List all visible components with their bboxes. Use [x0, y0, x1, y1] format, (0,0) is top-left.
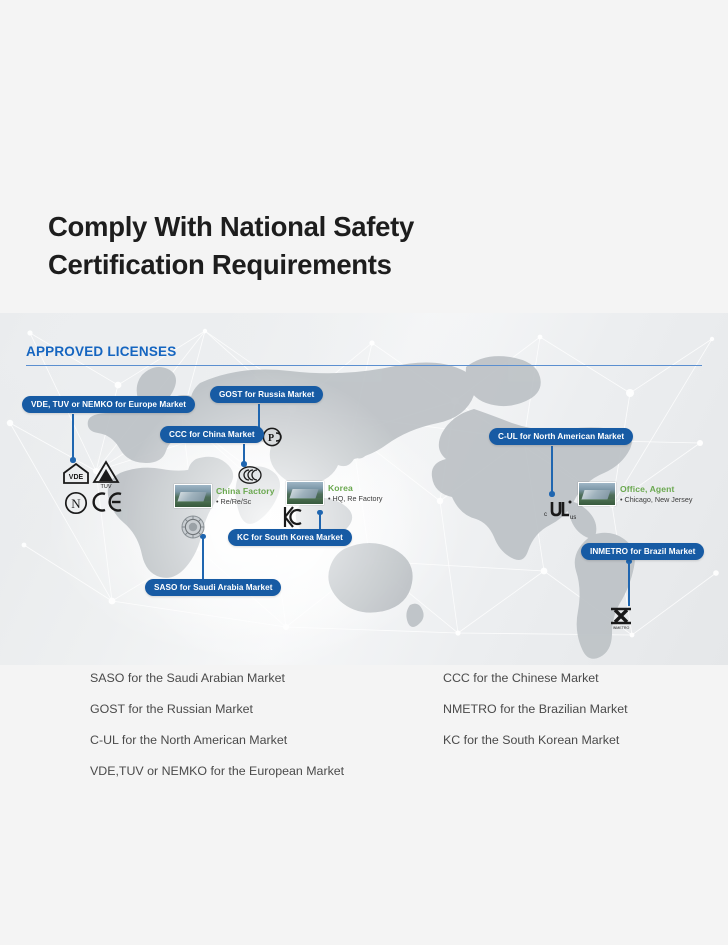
china-factory-photo: [174, 484, 212, 508]
page-title-line-1: Comply With National Safety: [48, 208, 648, 245]
page-title-line-2: Certification Requirements: [48, 246, 648, 283]
svg-text:us: us: [570, 515, 576, 521]
saso-mark-icon: [181, 515, 205, 539]
page-title: Comply With National Safety Certificatio…: [48, 208, 648, 282]
leader-line-north-america: [551, 446, 553, 494]
svg-text:c: c: [544, 512, 547, 518]
svg-text:P: P: [268, 433, 274, 444]
list-item: C-UL for the North American Market: [90, 734, 344, 746]
badge-china[interactable]: CCC for China Market: [160, 426, 264, 443]
site-korea: Korea • HQ, Re Factory: [286, 481, 382, 505]
inmetro-mark-icon: INMETRO: [608, 606, 634, 630]
list-item: GOST for the Russian Market: [90, 703, 344, 715]
license-list-right-column: CCC for the Chinese Market NMETRO for th…: [443, 672, 628, 765]
list-item: KC for the South Korean Market: [443, 734, 628, 746]
list-item: CCC for the Chinese Market: [443, 672, 628, 684]
kc-mark-icon: [281, 505, 303, 529]
badge-korea[interactable]: KC for South Korea Market: [228, 529, 352, 546]
pct-mark-icon: P: [262, 427, 284, 447]
vde-mark-icon: VDE: [62, 462, 90, 486]
site-office-agent: Office, Agent • Chicago, New Jersey: [578, 482, 692, 506]
korea-factory-photo: [286, 481, 324, 505]
badge-brazil[interactable]: INMETRO for Brazil Market: [581, 543, 704, 560]
badge-north-america[interactable]: C-UL for North American Market: [489, 428, 633, 445]
ccc-mark-icon: [238, 466, 262, 484]
office-agent-photo: [578, 482, 616, 506]
svg-text:INMETRO: INMETRO: [613, 626, 630, 630]
korea-name: Korea: [328, 483, 382, 494]
list-item: SASO for the Saudi Arabian Market: [90, 672, 344, 684]
list-item: VDE,TUV or NEMKO for the European Market: [90, 765, 344, 777]
site-china-factory: China Factory • Re/Re/Sc: [174, 484, 275, 508]
license-list-left-column: SASO for the Saudi Arabian Market GOST f…: [90, 672, 344, 796]
section-divider: [26, 365, 702, 366]
leader-line-europe: [72, 414, 74, 460]
office-agent-sub: • Chicago, New Jersey: [620, 495, 692, 504]
badge-russia[interactable]: GOST for Russia Market: [210, 386, 323, 403]
svg-text:TUV: TUV: [101, 484, 112, 488]
tuv-mark-icon: TUV: [92, 460, 120, 488]
leader-line-china: [243, 444, 245, 464]
badge-europe[interactable]: VDE, TUV or NEMKO for Europe Market: [22, 396, 195, 413]
svg-text:N: N: [71, 496, 81, 511]
ce-mark-icon: [92, 491, 124, 513]
leader-line-brazil: [628, 561, 630, 606]
china-factory-sub: • Re/Re/Sc: [216, 497, 275, 506]
list-item: NMETRO for the Brazilian Market: [443, 703, 628, 715]
nemko-mark-icon: N: [64, 491, 88, 515]
office-agent-name: Office, Agent: [620, 484, 692, 495]
license-list: SASO for the Saudi Arabian Market GOST f…: [0, 672, 728, 822]
approved-licenses-heading: APPROVED LICENSES: [26, 344, 176, 359]
cul-mark-icon: c us: [542, 497, 576, 521]
korea-sub: • HQ, Re Factory: [328, 494, 382, 503]
badge-saudi[interactable]: SASO for Saudi Arabia Market: [145, 579, 281, 596]
leader-line-saudi: [202, 536, 204, 581]
svg-text:VDE: VDE: [69, 474, 84, 481]
china-factory-name: China Factory: [216, 486, 275, 497]
